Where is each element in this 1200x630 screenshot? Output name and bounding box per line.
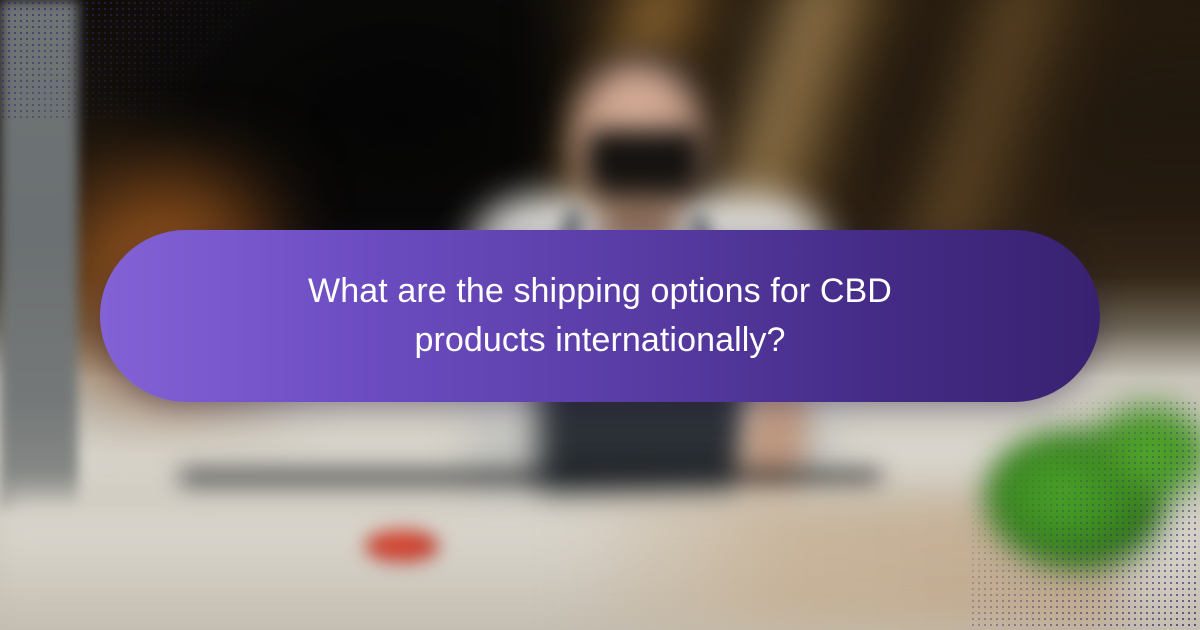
background-left-wall (0, 0, 78, 510)
question-card-canvas: What are the shipping options for CBD pr… (0, 0, 1200, 630)
background-herbs-secondary (1090, 405, 1200, 500)
background-tomato (365, 530, 439, 562)
question-pill: What are the shipping options for CBD pr… (100, 230, 1100, 402)
question-text: What are the shipping options for CBD pr… (220, 267, 980, 366)
background-face-mask (586, 130, 702, 196)
